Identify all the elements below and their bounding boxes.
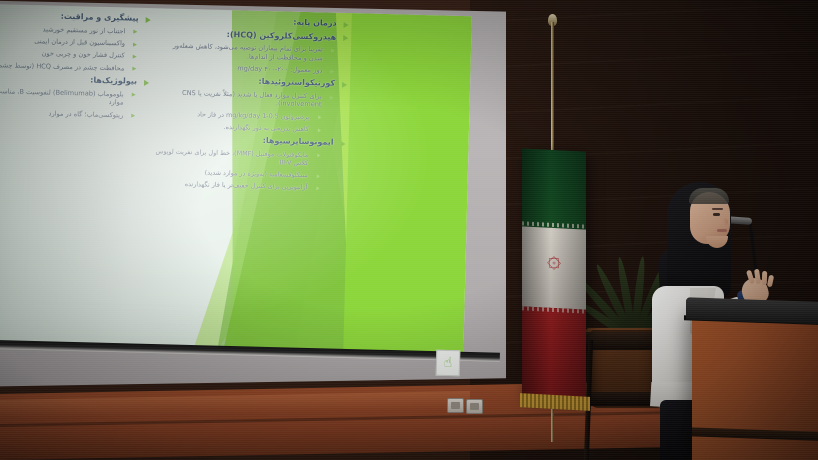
slide-shape-1: [343, 13, 472, 356]
bullet-item: سیکلوفسفامید (به‌ویژه در موارد شدید): [154, 167, 346, 180]
bullet-item: کنترل فشار خون و چربی خون: [0, 48, 151, 61]
bullet-item: پیشگیری و مراقبت:: [0, 10, 152, 24]
slide-bullet-column-right: درمان پایه: هیدروکسی‌کلروکین (HCQ): تقری…: [153, 14, 349, 196]
bullet-item: کاهش تدریجی به دوز نگهدارنده.: [155, 121, 347, 134]
slide-bullet-column-left: پیشگیری و مراقبت: اجتناب از نور مستقیم خ…: [0, 10, 152, 124]
presentation-slide: درمان پایه: هیدروکسی‌کلروکین (HCQ): تقری…: [0, 4, 472, 356]
bullet-item: ریتوکسی‌ماب؛ گاه در موارد: [0, 107, 149, 120]
bullet-item: مایکوفنولات موفتیل (MMF)، خط اول برای نف…: [154, 147, 346, 168]
speaker-hairline: [689, 188, 729, 204]
bullet-item: برای کنترل موارد فعال یا شدید (مثلاً نفر…: [155, 88, 347, 110]
bullet-item: بیولوژیک‌ها:: [0, 73, 150, 87]
flag-shading: [522, 148, 586, 401]
bullet-item: هیدروکسی‌کلروکین (HCQ):: [157, 28, 349, 42]
bullet-item: تقریبا برای تمام بیماران توصیه می‌شود، ک…: [157, 41, 349, 63]
speaker-mouth: [717, 229, 727, 232]
bullet-item: بلوموماب (Belimumab) لنفوسیت B، مناسب بر…: [0, 87, 150, 108]
bullet-item: محافظت چشم در مصرف HCQ (توسط چشم‌پزشک): [0, 61, 151, 74]
lecture-hall-photo: درمان پایه: هیدروکسی‌کلروکین (HCQ): تقری…: [0, 0, 818, 460]
bullet-item: ایمونوساپرسیوها:: [155, 133, 347, 147]
projection-screen: درمان پایه: هیدروکسی‌کلروکین (HCQ): تقری…: [0, 0, 506, 388]
power-socket-icon: [466, 399, 483, 414]
bullet-item: دوز معمول: ۲۰۰-۴۰۰ mg/day: [156, 62, 348, 75]
bullet-item: کورتیکواستروئیدها:: [156, 75, 348, 89]
speaker-eye: [713, 213, 720, 216]
iranian-flag: ۞: [522, 148, 586, 401]
bullet-item: واکسیناسیون قبل از درمان ایمنی: [0, 36, 151, 49]
speaker-eyebrow: [712, 208, 723, 210]
pointer-hand-icon: ☝: [436, 350, 461, 377]
power-socket-icon: [447, 398, 464, 413]
bullet-item: اجتناب از نور مستقیم خورشید: [0, 23, 151, 36]
bullet-item: آزاتیوپرین برای کنترل خفیف‌تر یا فاز نگه…: [153, 180, 345, 193]
bullet-item: پردنیزولون 0.5-1 mg/kg/day در فاز حاد: [155, 109, 347, 122]
